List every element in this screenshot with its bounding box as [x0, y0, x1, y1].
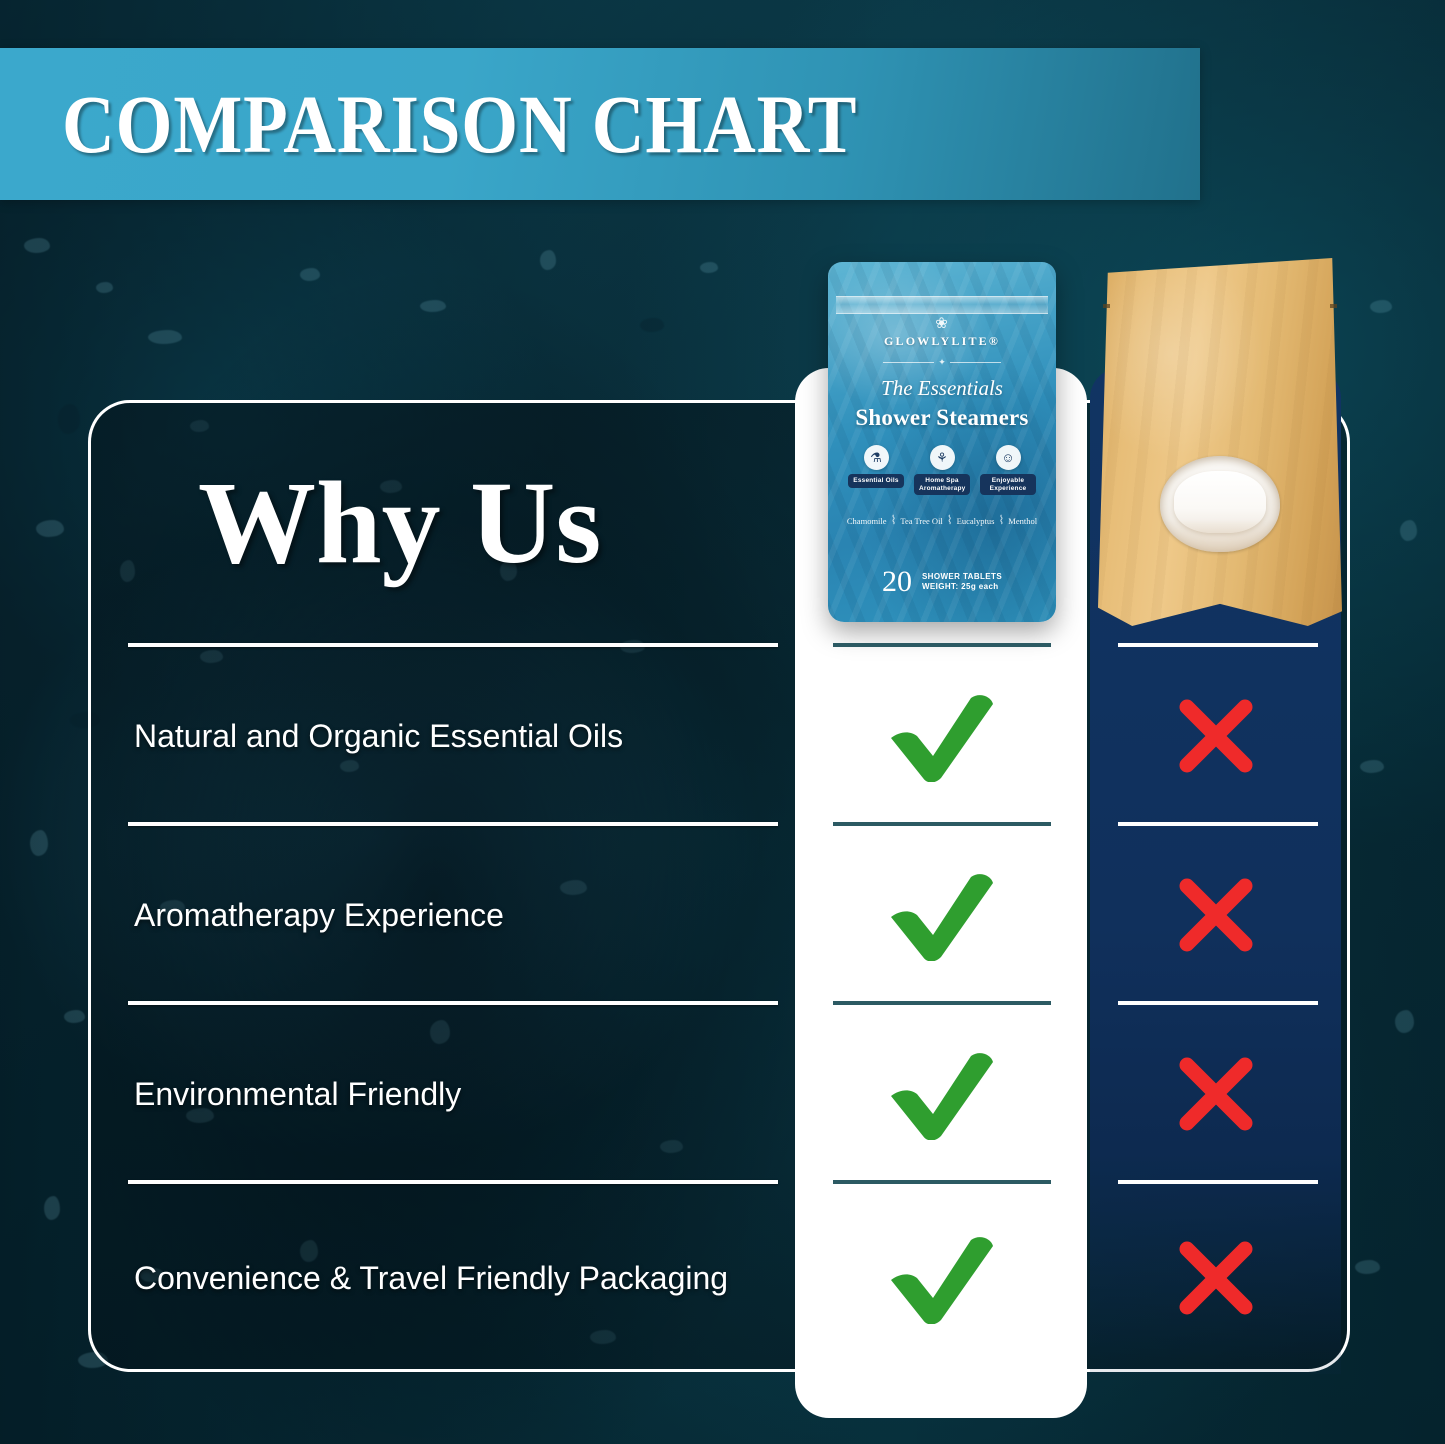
theirs-cell [1090, 647, 1341, 824]
cross-icon [1174, 1052, 1258, 1136]
theirs-cell [1090, 1005, 1341, 1182]
pouch-zipper [836, 296, 1048, 314]
kraft-tear-notch-right [1330, 304, 1337, 308]
comparison-table: Why Us Natural and Organic Essential Oil… [88, 400, 1350, 1372]
check-icon [885, 1048, 997, 1140]
check-icon [885, 869, 997, 961]
feature-label: Environmental Friendly [134, 1005, 794, 1182]
check-icon [885, 1232, 997, 1324]
comparison-chart-canvas: COMPARISON CHART ❀ GLOWLYLITE® ✦ The Ess… [0, 0, 1445, 1444]
check-icon [885, 690, 997, 782]
ours-cell [795, 1184, 1087, 1372]
ours-cell [795, 1005, 1087, 1182]
cross-icon [1174, 1236, 1258, 1320]
table-row: Environmental Friendly [88, 1005, 1350, 1182]
cross-icon [1174, 694, 1258, 778]
feature-label: Aromatherapy Experience [134, 826, 794, 1003]
pouch-divider-ornament: ✦ [883, 358, 1001, 367]
pouch-collection-name: The Essentials [828, 376, 1056, 401]
header-banner: COMPARISON CHART [0, 48, 1200, 200]
kraft-tear-notch-left [1103, 304, 1110, 308]
table-row: Convenience & Travel Friendly Packaging [88, 1184, 1350, 1372]
page-title: COMPARISON CHART [62, 76, 857, 172]
table-row: Aromatherapy Experience [88, 826, 1350, 1003]
theirs-cell [1090, 1184, 1341, 1372]
pouch-crest-icon: ❀ [828, 318, 1056, 330]
cross-icon [1174, 873, 1258, 957]
why-us-title-row: Why Us [88, 400, 795, 645]
why-us-heading: Why Us [198, 467, 601, 579]
ours-cell [795, 647, 1087, 824]
ours-cell [795, 826, 1087, 1003]
feature-label: Natural and Organic Essential Oils [134, 647, 794, 824]
table-row: Natural and Organic Essential Oils [88, 647, 1350, 824]
theirs-cell [1090, 826, 1341, 1003]
pouch-brand-name: GLOWLYLITE® [828, 334, 1056, 349]
feature-label: Convenience & Travel Friendly Packaging [134, 1184, 734, 1372]
